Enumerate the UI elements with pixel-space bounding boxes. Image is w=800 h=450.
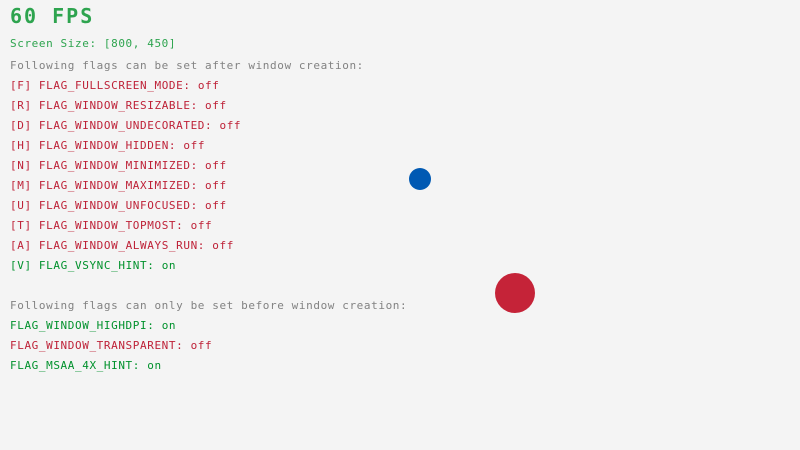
flag-name: FLAG_WINDOW_MINIMIZED: bbox=[39, 159, 198, 172]
flag-name: FLAG_WINDOW_TRANSPARENT: bbox=[10, 339, 183, 352]
flag-key: [H] bbox=[10, 139, 32, 152]
creation-flags-header: Following flags can only be set before w… bbox=[10, 300, 407, 311]
flag-row[interactable]: [F] FLAG_FULLSCREEN_MODE: off bbox=[10, 80, 220, 91]
flag-name: FLAG_VSYNC_HINT: bbox=[39, 259, 155, 272]
blue-ball-shape bbox=[409, 168, 431, 190]
flag-key: [R] bbox=[10, 99, 32, 112]
flag-name: FLAG_WINDOW_ALWAYS_RUN: bbox=[39, 239, 205, 252]
flag-key: [M] bbox=[10, 179, 32, 192]
flag-row[interactable]: FLAG_WINDOW_TRANSPARENT: off bbox=[10, 340, 212, 351]
flag-row[interactable]: [M] FLAG_WINDOW_MAXIMIZED: off bbox=[10, 180, 227, 191]
flag-value: off bbox=[191, 339, 213, 352]
flag-value: off bbox=[205, 159, 227, 172]
flag-name: FLAG_WINDOW_HIDDEN: bbox=[39, 139, 176, 152]
fps-counter: 60 FPS bbox=[10, 6, 94, 26]
flag-name: FLAG_WINDOW_HIGHDPI: bbox=[10, 319, 154, 332]
flag-row[interactable]: [N] FLAG_WINDOW_MINIMIZED: off bbox=[10, 160, 227, 171]
flag-key: [F] bbox=[10, 79, 32, 92]
flag-row[interactable]: [A] FLAG_WINDOW_ALWAYS_RUN: off bbox=[10, 240, 234, 251]
flag-row[interactable]: FLAG_WINDOW_HIGHDPI: on bbox=[10, 320, 176, 331]
flag-name: FLAG_WINDOW_TOPMOST: bbox=[39, 219, 183, 232]
flag-name: FLAG_FULLSCREEN_MODE: bbox=[39, 79, 191, 92]
flag-row[interactable]: FLAG_MSAA_4X_HINT: on bbox=[10, 360, 162, 371]
flag-value: off bbox=[212, 239, 234, 252]
flag-key: [V] bbox=[10, 259, 32, 272]
flag-row[interactable]: [U] FLAG_WINDOW_UNFOCUSED: off bbox=[10, 200, 227, 211]
flag-key: [N] bbox=[10, 159, 32, 172]
flag-key: [A] bbox=[10, 239, 32, 252]
flag-key: [D] bbox=[10, 119, 32, 132]
flag-name: FLAG_WINDOW_MAXIMIZED: bbox=[39, 179, 198, 192]
flag-value: off bbox=[205, 179, 227, 192]
screen-size-label: Screen Size: [800, 450] bbox=[10, 38, 176, 49]
flag-value: off bbox=[205, 99, 227, 112]
flag-value: off bbox=[219, 119, 241, 132]
flag-value: off bbox=[183, 139, 205, 152]
raylib-window-canvas: 60 FPS Screen Size: [800, 450] Following… bbox=[0, 0, 800, 450]
flag-row[interactable]: [V] FLAG_VSYNC_HINT: on bbox=[10, 260, 176, 271]
flag-row[interactable]: [R] FLAG_WINDOW_RESIZABLE: off bbox=[10, 100, 227, 111]
runtime-flags-header: Following flags can be set after window … bbox=[10, 60, 364, 71]
flag-row[interactable]: [H] FLAG_WINDOW_HIDDEN: off bbox=[10, 140, 205, 151]
flag-key: [U] bbox=[10, 199, 32, 212]
red-ball-shape bbox=[495, 273, 535, 313]
flag-value: on bbox=[162, 319, 176, 332]
flag-value: off bbox=[198, 79, 220, 92]
flag-value: on bbox=[147, 359, 161, 372]
flag-value: on bbox=[162, 259, 176, 272]
flag-name: FLAG_WINDOW_UNDECORATED: bbox=[39, 119, 212, 132]
flag-row[interactable]: [T] FLAG_WINDOW_TOPMOST: off bbox=[10, 220, 212, 231]
flag-value: off bbox=[191, 219, 213, 232]
flag-value: off bbox=[205, 199, 227, 212]
flag-row[interactable]: [D] FLAG_WINDOW_UNDECORATED: off bbox=[10, 120, 241, 131]
flag-key: [T] bbox=[10, 219, 32, 232]
flag-name: FLAG_WINDOW_UNFOCUSED: bbox=[39, 199, 198, 212]
flag-name: FLAG_WINDOW_RESIZABLE: bbox=[39, 99, 198, 112]
flag-name: FLAG_MSAA_4X_HINT: bbox=[10, 359, 140, 372]
